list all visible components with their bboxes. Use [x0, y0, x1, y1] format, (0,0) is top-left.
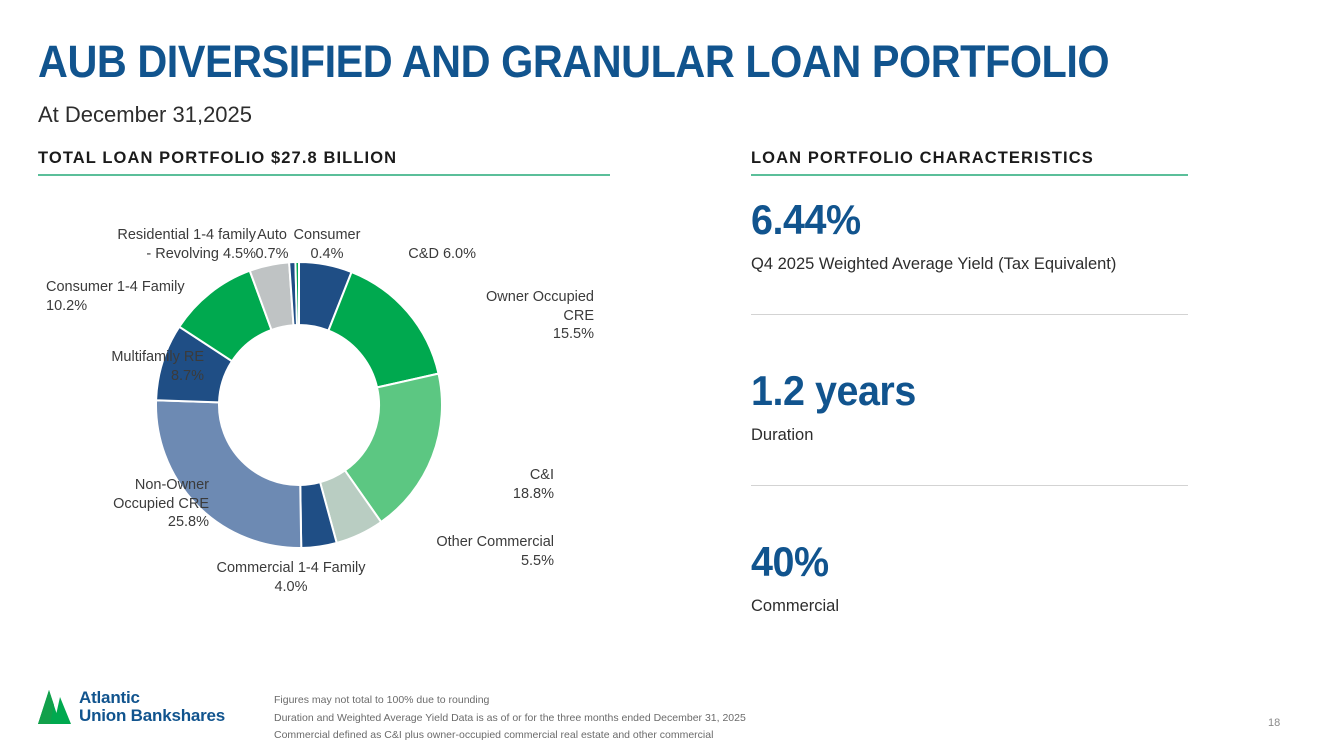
donut-label-owner-occupied-cre: Owner Occupied CRE 15.5% [424, 288, 594, 344]
logo-wordmark: Atlantic Union Bankshares [79, 689, 225, 726]
donut-slice [328, 272, 438, 387]
left-section-heading: TOTAL LOAN PORTFOLIO $27.8 BILLION [38, 149, 397, 168]
stat-label-yield: Q4 2025 Weighted Average Yield (Tax Equi… [751, 252, 1188, 276]
page-number: 18 [1268, 717, 1280, 729]
page-title: AUB DIVERSIFIED AND GRANULAR LOAN PORTFO… [38, 36, 1109, 88]
loan-portfolio-characteristics-panel: 6.44% Q4 2025 Weighted Average Yield (Ta… [751, 148, 1188, 618]
footnote-3: Commercial defined as C&I plus owner-occ… [274, 727, 746, 745]
mountain-icon [38, 688, 72, 726]
footnotes: Figures may not total to 100% due to rou… [274, 692, 746, 745]
page-subtitle: At December 31,2025 [38, 100, 252, 130]
footnote-2: Duration and Weighted Average Yield Data… [274, 710, 746, 728]
logo-line-1: Atlantic [79, 689, 225, 708]
left-section-divider [38, 174, 610, 176]
donut-slice [295, 262, 299, 325]
footnote-1: Figures may not total to 100% due to rou… [274, 692, 746, 710]
stat-value-yield: 6.44% [751, 196, 1162, 244]
donut-label-non-owner-occupied-cre: Non-Owner Occupied CRE 25.8% [64, 476, 209, 532]
company-logo: Atlantic Union Bankshares [38, 688, 225, 726]
donut-label-cd: C&D 6.0% [346, 245, 476, 264]
stat-block-yield: 6.44% Q4 2025 Weighted Average Yield (Ta… [751, 148, 1188, 314]
stat-value-commercial: 40% [751, 538, 1162, 586]
stat-label-duration: Duration [751, 423, 1188, 447]
donut-label-ci: C&I 18.8% [424, 466, 554, 503]
stat-block-commercial: 40% Commercial [751, 486, 1188, 618]
donut-label-multifamily-re: Multifamily RE 8.7% [54, 348, 204, 385]
stat-label-commercial: Commercial [751, 594, 1188, 618]
donut-label-residential-revolving: Residential 1-4 family - Revolving 4.5% [56, 226, 256, 263]
logo-line-2: Union Bankshares [79, 707, 225, 726]
stat-block-duration: 1.2 years Duration [751, 315, 1188, 485]
donut-label-consumer-1-4-family: Consumer 1-4 Family 10.2% [46, 278, 231, 315]
loan-portfolio-donut-chart: Residential 1-4 family - Revolving 4.5% … [36, 196, 726, 616]
stat-value-duration: 1.2 years [751, 367, 1162, 415]
slide-root: AUB DIVERSIFIED AND GRANULAR LOAN PORTFO… [0, 0, 1333, 749]
donut-label-commercial-1-4-family: Commercial 1-4 Family 4.0% [156, 559, 426, 596]
